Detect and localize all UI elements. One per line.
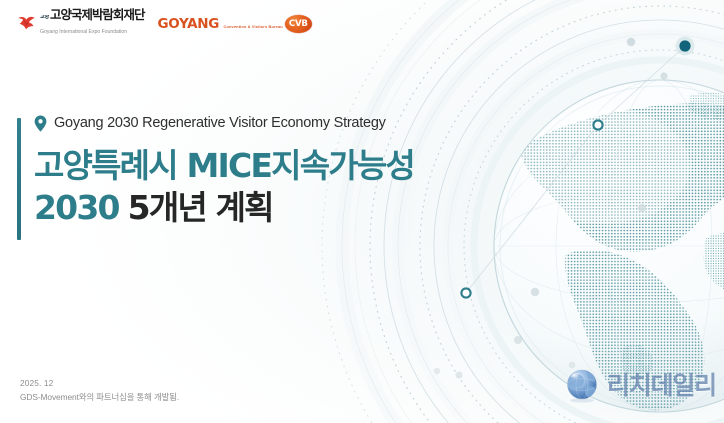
headline-line2-text: 5개년 계획 bbox=[128, 188, 273, 227]
cvb-tagline: Convention & Visitors Bureau bbox=[224, 24, 283, 29]
headline-line1: 고양특례시 MICE지속가능성 bbox=[34, 146, 414, 185]
title-accent-bar bbox=[17, 118, 21, 240]
footer-date: 2025. 12 bbox=[20, 377, 179, 391]
watermark-text: 리치데일리 bbox=[607, 366, 716, 402]
cvb-wordmark: GOYANG bbox=[158, 16, 220, 32]
gief-name-korean: 고양국제박람회재단 bbox=[50, 9, 145, 21]
cover-slide: 고양 고양국제박람회재단 Goyang International Expo F… bbox=[0, 0, 724, 423]
goyang-international-expo-foundation-logo: 고양 고양국제박람회재단 Goyang International Expo F… bbox=[17, 9, 145, 37]
gief-name-english: Goyang International Expo Foundation bbox=[40, 29, 127, 35]
page-title: 고양특례시 MICE지속가능성 20305개년 계획 bbox=[34, 145, 554, 229]
goyang-cvb-logo: GOYANG Convention & Visitors Bureau CVB bbox=[158, 15, 312, 33]
eyebrow-row: Goyang 2030 Regenerative Visitor Economy… bbox=[34, 112, 554, 134]
location-pin-icon bbox=[34, 115, 47, 132]
title-block: Goyang 2030 Regenerative Visitor Economy… bbox=[34, 112, 554, 229]
footer: 2025. 12 GDS-Movement와의 파트너십을 통해 개발됨. bbox=[20, 377, 179, 405]
footer-note: GDS-Movement와의 파트너십을 통해 개발됨. bbox=[20, 391, 179, 405]
eyebrow-text: Goyang 2030 Regenerative Visitor Economy… bbox=[54, 115, 386, 131]
headline-line2-year: 2030 bbox=[34, 188, 119, 227]
gief-badge-text: 고양 bbox=[40, 15, 49, 20]
header-logo-bar: 고양 고양국제박람회재단 Goyang International Expo F… bbox=[17, 9, 312, 37]
blue-globe-icon bbox=[563, 365, 601, 403]
cvb-badge: CVB bbox=[285, 15, 312, 33]
watermark: 리치데일리 bbox=[563, 365, 716, 403]
goyang-ribbon-mark-icon bbox=[17, 14, 36, 33]
